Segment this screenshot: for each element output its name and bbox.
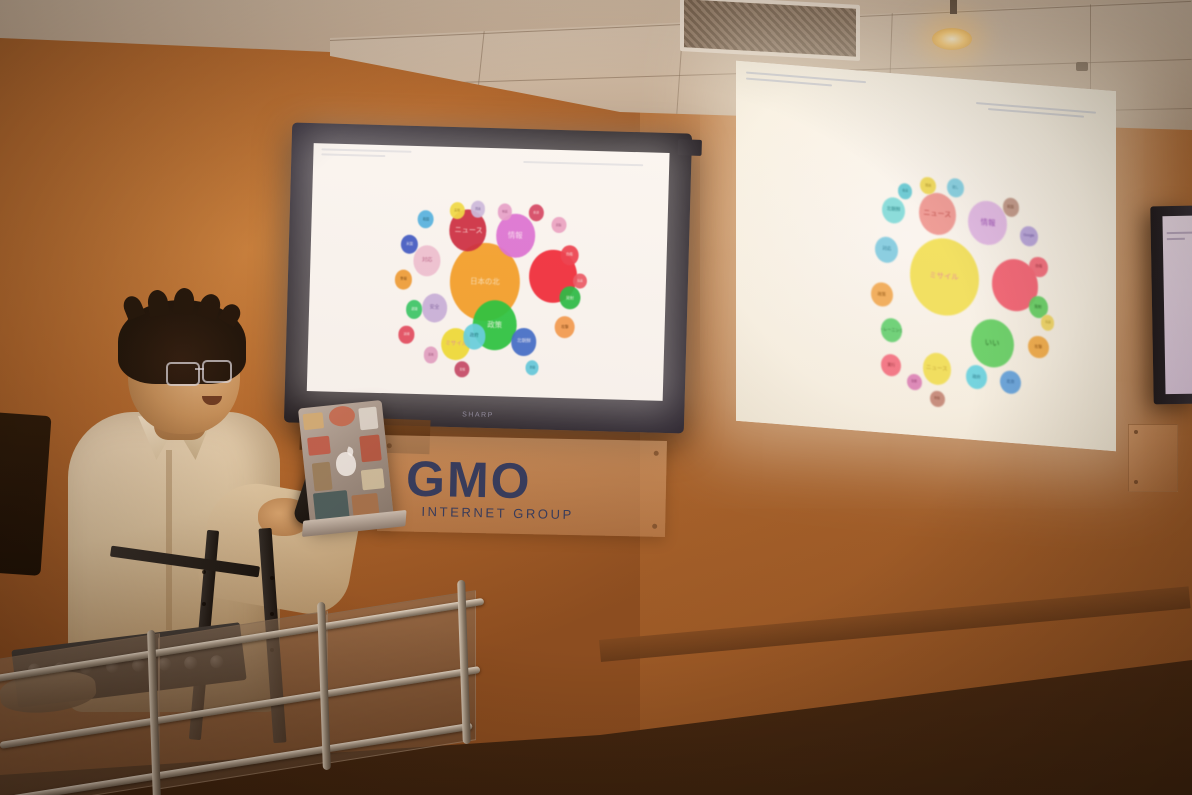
- chart-bubble-label: 政策: [878, 292, 887, 297]
- chart-bubble-label: 避難: [411, 308, 417, 311]
- chart-bubble: 抗し: [947, 178, 964, 198]
- chart-bubble: ニュース: [923, 352, 952, 386]
- chart-bubble-label: 防衛: [934, 397, 940, 400]
- chart-bubble: 対応: [875, 236, 898, 264]
- chart-bubble: 協議: [573, 273, 587, 289]
- chart-bubble: 発射: [560, 286, 581, 310]
- chart-bubble: 訓練: [399, 326, 415, 344]
- chart-bubble-label: 自衛: [1035, 265, 1042, 269]
- chart-bubble: 国連: [920, 176, 936, 195]
- chart-bubble: 韓国: [417, 210, 434, 229]
- chart-bubble-label: 政府: [470, 334, 479, 339]
- chart-bubble: 警報: [395, 270, 413, 290]
- apple-logo-icon: [335, 451, 357, 477]
- ceiling-fitting: [950, 0, 957, 14]
- bubble-chart-projector: ミサイルニュース情報いいニュース北朝鮮対応政策トレーニング実行政府北京攻撃発射自…: [836, 151, 1066, 420]
- chart-bubble: ミサイル: [910, 236, 979, 319]
- chart-bubble-label: 情報: [980, 219, 995, 228]
- chart-bubble: ニュース: [919, 192, 956, 236]
- chart-bubble: 北朝鮮: [511, 328, 536, 356]
- chart-bubble: 政策: [871, 281, 893, 307]
- gmo-subtitle-text: INTERNET GROUP: [421, 504, 574, 522]
- wall-access-panel: [1128, 424, 1178, 492]
- chart-bubble-label: 攻撃: [561, 325, 569, 329]
- chart-bubble-label: 攻撃: [1034, 345, 1042, 350]
- display-screen: 日本の北ニュース情報政策ミサイル対応安全北朝鮮政府発射攻撃自衛米国警報避難韓国実…: [307, 143, 670, 401]
- chart-bubble: 実行: [881, 353, 901, 377]
- chart-bubble: 配備: [907, 373, 922, 391]
- chart-bubble: 配備: [455, 361, 470, 378]
- chart-bubble: 北朝鮮: [882, 196, 906, 225]
- chart-bubble-label: 会談: [534, 211, 540, 214]
- chart-bubble: 政府: [966, 364, 987, 389]
- chart-bubble: 防衛: [930, 390, 945, 408]
- chart-bubble: 攻撃: [555, 316, 575, 339]
- chart-bubble: 協議: [1041, 314, 1055, 331]
- eyeglasses-right-lens: [202, 360, 232, 383]
- chart-bubble-label: 国連: [925, 184, 931, 188]
- chart-bubble: 攻撃: [1028, 335, 1048, 359]
- chart-bubble-label: いい: [985, 339, 1000, 348]
- chart-bubble-label: ミサイル: [929, 272, 958, 282]
- chart-bubble: いい: [971, 317, 1014, 369]
- chart-bubble: Google: [1020, 226, 1037, 247]
- eyeglasses-bridge: [195, 368, 204, 370]
- chart-bubble-label: 政策: [488, 322, 503, 330]
- chart-bubble: 情報: [496, 213, 536, 258]
- chart-bubble-label: ニュース: [454, 227, 482, 235]
- chart-bubble-label: 自衛: [566, 253, 573, 257]
- chart-bubble: 韓国: [1003, 197, 1020, 217]
- chart-bubble-label: 警報: [400, 278, 407, 282]
- chart-bubble-label: 対応: [421, 258, 432, 264]
- chart-bubble-label: 配備: [459, 368, 465, 371]
- chart-bubble-label: 訓練: [404, 333, 410, 336]
- chart-bubble: 防衛: [525, 360, 539, 376]
- macbook-laptop: [298, 400, 394, 528]
- chart-bubble: 安全: [421, 294, 447, 323]
- display-sensor-nub: [678, 139, 702, 156]
- chart-bubble-label: 北京: [1007, 380, 1015, 385]
- chart-bubble-label: 実行: [887, 363, 895, 368]
- chart-bubble: トレーニング: [881, 317, 902, 342]
- chart-bubble-label: 韓国: [422, 218, 428, 221]
- laptop-lid: [298, 400, 394, 528]
- chart-bubble-label: 情報: [508, 232, 523, 240]
- chart-bubble-label: 対応: [882, 247, 891, 252]
- chart-bubble-label: トレーニング: [881, 327, 902, 333]
- steel-railing: [0, 572, 490, 795]
- chart-bubble: 北京: [1000, 370, 1021, 395]
- gmo-logo-text: GMO: [406, 450, 533, 511]
- ceiling-downlight: [932, 28, 972, 50]
- sprinkler-head-icon: [1076, 62, 1088, 71]
- projector-screen: ミサイルニュース情報いいニュース北朝鮮対応政策トレーニング実行政府北京攻撃発射自…: [736, 61, 1116, 452]
- chart-bubble-label: 会議: [902, 190, 908, 193]
- chart-bubble-label: 発射: [566, 296, 574, 300]
- chart-bubble: 対応: [413, 245, 441, 276]
- chart-bubble-label: 国連: [475, 208, 481, 211]
- chart-bubble-label: ニュース: [923, 209, 951, 218]
- eyeglasses-left-lens: [166, 362, 200, 386]
- chart-bubble: 会議: [898, 182, 913, 200]
- chart-bubble-label: 協議: [577, 279, 583, 282]
- conference-room-photo: ミサイルニュース情報いいニュース北朝鮮対応政策トレーニング実行政府北京攻撃発射自…: [0, 0, 1192, 795]
- chart-bubble-label: 実験: [454, 209, 460, 212]
- chart-bubble-label: 政府: [972, 375, 980, 380]
- chart-bubble-label: 制裁: [502, 210, 508, 213]
- bubble-chart-display: 日本の北ニュース情報政策ミサイル対応安全北朝鮮政府発射攻撃自衛米国警報避難韓国実…: [369, 185, 600, 387]
- chart-bubble: 自衛: [1029, 256, 1047, 278]
- chart-bubble-label: 日本の北: [470, 278, 500, 286]
- chart-bubble-label: 首脳: [556, 224, 562, 227]
- chart-bubble-label: 協議: [1045, 321, 1051, 324]
- chart-bubble-label: 米国: [406, 243, 413, 247]
- chart-bubble-label: ニュース: [926, 365, 948, 372]
- chart-bubble-label: 安全: [429, 305, 439, 310]
- chart-bubble: 基地: [423, 347, 438, 364]
- sharp-wall-display: 日本の北ニュース情報政策ミサイル対応安全北朝鮮政府発射攻撃自衛米国警報避難韓国実…: [284, 122, 692, 433]
- chart-bubble-label: 抗し: [952, 186, 958, 190]
- chart-bubble: 自衛: [560, 245, 579, 266]
- secondary-monitor: [1150, 206, 1192, 405]
- chart-bubble-label: 北朝鮮: [887, 207, 901, 213]
- display-brand-label: SHARP: [462, 411, 494, 419]
- chart-bubble: 首脳: [551, 217, 566, 234]
- ceiling-air-vent: [680, 0, 860, 61]
- chart-bubble-label: Google: [1024, 234, 1035, 238]
- chart-bubble-label: 防衛: [529, 366, 535, 369]
- gmo-wall-sign: GMO INTERNET GROUP: [377, 435, 667, 537]
- chart-bubble: 会談: [529, 204, 545, 222]
- chart-bubble: 避難: [406, 300, 423, 319]
- chart-bubble: 国連: [470, 201, 485, 218]
- chart-bubble-label: 北朝鮮: [517, 339, 531, 344]
- secondary-monitor-screen: [1162, 216, 1192, 395]
- chart-bubble-label: 発射: [1035, 305, 1042, 309]
- chart-bubble-label: 配備: [911, 380, 917, 383]
- chart-bubble: 情報: [968, 200, 1007, 246]
- chart-bubble-label: 韓国: [1008, 205, 1014, 209]
- chart-bubble-label: 基地: [428, 354, 434, 357]
